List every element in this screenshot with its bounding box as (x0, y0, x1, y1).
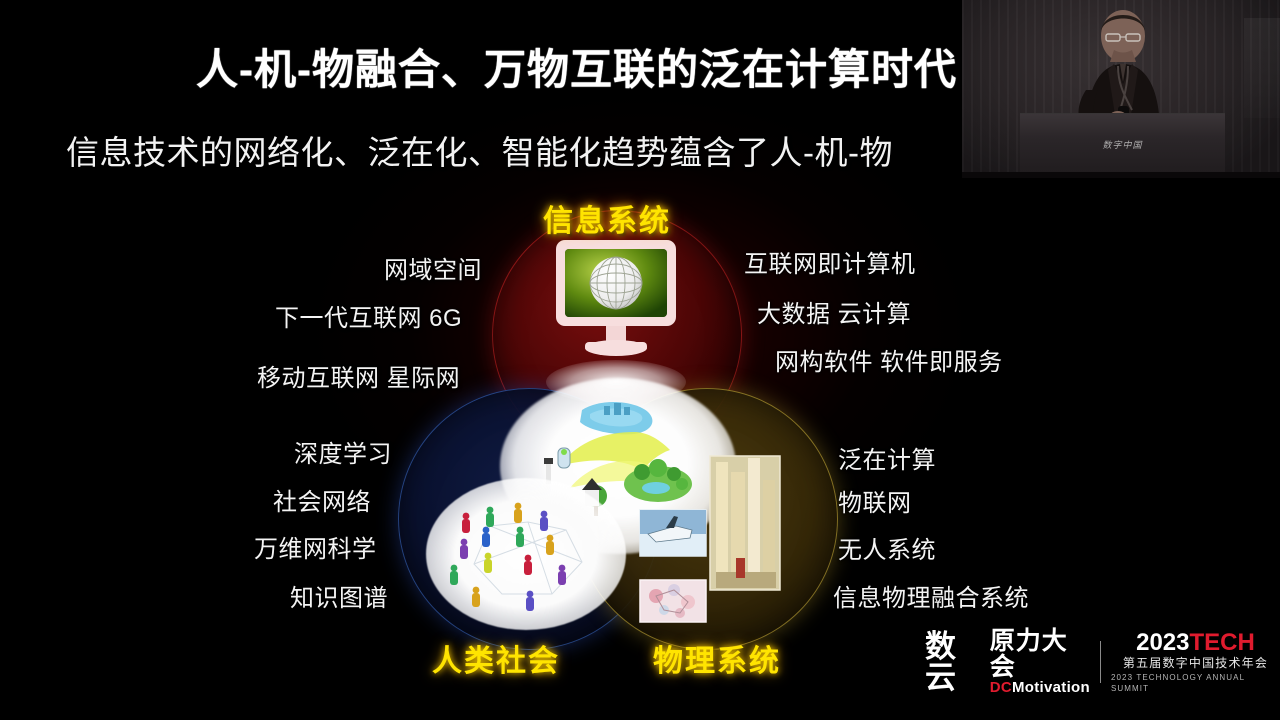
term-bottom-left-2: 社会网络 (273, 482, 371, 517)
podium: 数字中国 (1020, 113, 1225, 172)
presentation-slide-screenshot: 人-机-物融合、万物互联的泛在计算时代 信息技术的网络化、泛在化、智能化趋势蕴含… (0, 0, 1280, 720)
thumbnail-airplane (640, 510, 706, 556)
term-bottom-right-3: 无人系统 (838, 530, 936, 565)
term-bottom-right-4: 信息物理融合系统 (833, 578, 1029, 613)
term-bottom-left-4: 知识图谱 (290, 578, 388, 613)
page-subtitle: 信息技术的网络化、泛在化、智能化趋势蕴含了人-机-物 (66, 126, 893, 174)
logo-motivation-text: Motivation (1012, 679, 1090, 696)
conference-logo: 数云 原力大会 DCMotivation 2023TECH 第五届数字中国技术年… (925, 634, 1280, 690)
logo-brand-cn: 数云 (925, 631, 987, 693)
thumbnail-molecules (640, 580, 706, 622)
term-top-right-2: 大数据 云计算 (757, 294, 911, 329)
term-top-left-1: 网域空间 (384, 250, 482, 285)
thumbnail-skyscrapers (710, 456, 780, 590)
logo-brand-stack: 原力大会 DCMotivation (990, 628, 1090, 697)
term-top-right-3: 网构软件 软件即服务 (775, 342, 1003, 377)
logo-year-tech: 2023TECH (1136, 630, 1255, 655)
logo-subtitle-cn: 第五届数字中国技术年会 (1123, 655, 1268, 672)
term-top-left-2: 下一代互联网 6G (275, 298, 462, 333)
monitor-globe-icon (548, 238, 684, 362)
term-top-right-1: 互联网即计算机 (744, 244, 916, 279)
logo-subtitle-en: 2023 TECHNOLOGY ANNUAL SUMMIT (1111, 672, 1280, 694)
venn-label-physical-system: 物理系统 (653, 636, 781, 680)
venn-label-human-society: 人类社会 (432, 636, 560, 680)
logo-brand-en: DCMotivation (990, 680, 1090, 697)
logo-year-number: 2023 (1136, 629, 1189, 656)
page-title: 人-机-物融合、万物互联的泛在计算时代 (196, 36, 957, 97)
term-bottom-right-1: 泛在计算 (838, 440, 936, 475)
logo-summit-block: 2023TECH 第五届数字中国技术年会 2023 TECHNOLOGY ANN… (1111, 630, 1280, 694)
video-bottom-bar (962, 172, 1280, 178)
logo-brand-cn2: 原力大会 (990, 628, 1090, 681)
video-side-panel (1244, 18, 1280, 118)
logo-dc-text: DC (990, 679, 1012, 696)
term-bottom-left-1: 深度学习 (294, 434, 392, 469)
term-top-left-3: 移动互联网 星际网 (257, 358, 460, 393)
people-network-illustration (432, 482, 622, 628)
term-bottom-left-3: 万维网科学 (254, 529, 377, 564)
logo-divider (1100, 641, 1101, 683)
physical-system-thumbnails (632, 450, 792, 640)
podium-text: 数字中国 (1020, 138, 1225, 151)
venn-label-information-system: 信息系统 (543, 196, 671, 240)
term-bottom-right-2: 物联网 (838, 483, 912, 518)
logo-tech-accent: TECH (1190, 629, 1255, 656)
speaker-video-overlay[interactable]: 数字中国 (962, 0, 1280, 178)
